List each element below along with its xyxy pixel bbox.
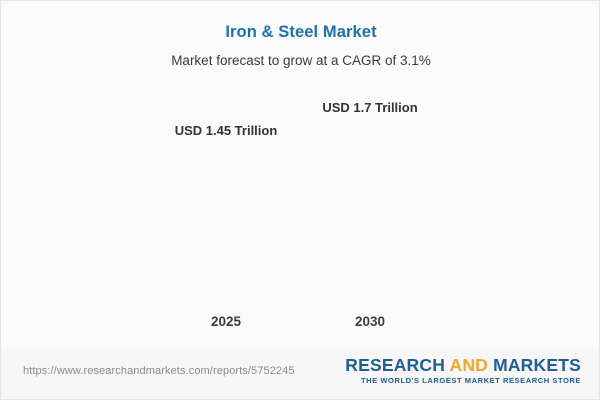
logo-word-research: RESEARCH (345, 355, 445, 375)
report-url[interactable]: https://www.researchandmarkets.com/repor… (23, 365, 295, 377)
footer: https://www.researchandmarkets.com/repor… (1, 347, 600, 399)
brand-logo[interactable]: RESEARCH AND MARKETS THE WORLD'S LARGEST… (345, 356, 581, 386)
logo-word-and: AND (449, 355, 488, 375)
chart-card: Iron & Steel Market Market forecast to g… (0, 0, 600, 400)
value-label-2025: USD 1.45 Trillion (116, 123, 336, 138)
value-label-2030: USD 1.7 Trillion (260, 100, 480, 115)
logo-word-markets: MARKETS (493, 355, 581, 375)
logo-tagline: THE WORLD'S LARGEST MARKET RESEARCH STOR… (345, 377, 581, 385)
axis-label-2030: 2030 (280, 314, 460, 329)
logo-wordmark: RESEARCH AND MARKETS (345, 356, 581, 374)
chart-plot-area: USD 1.45 Trillion 2025 USD 1.7 Trillion (1, 1, 600, 349)
